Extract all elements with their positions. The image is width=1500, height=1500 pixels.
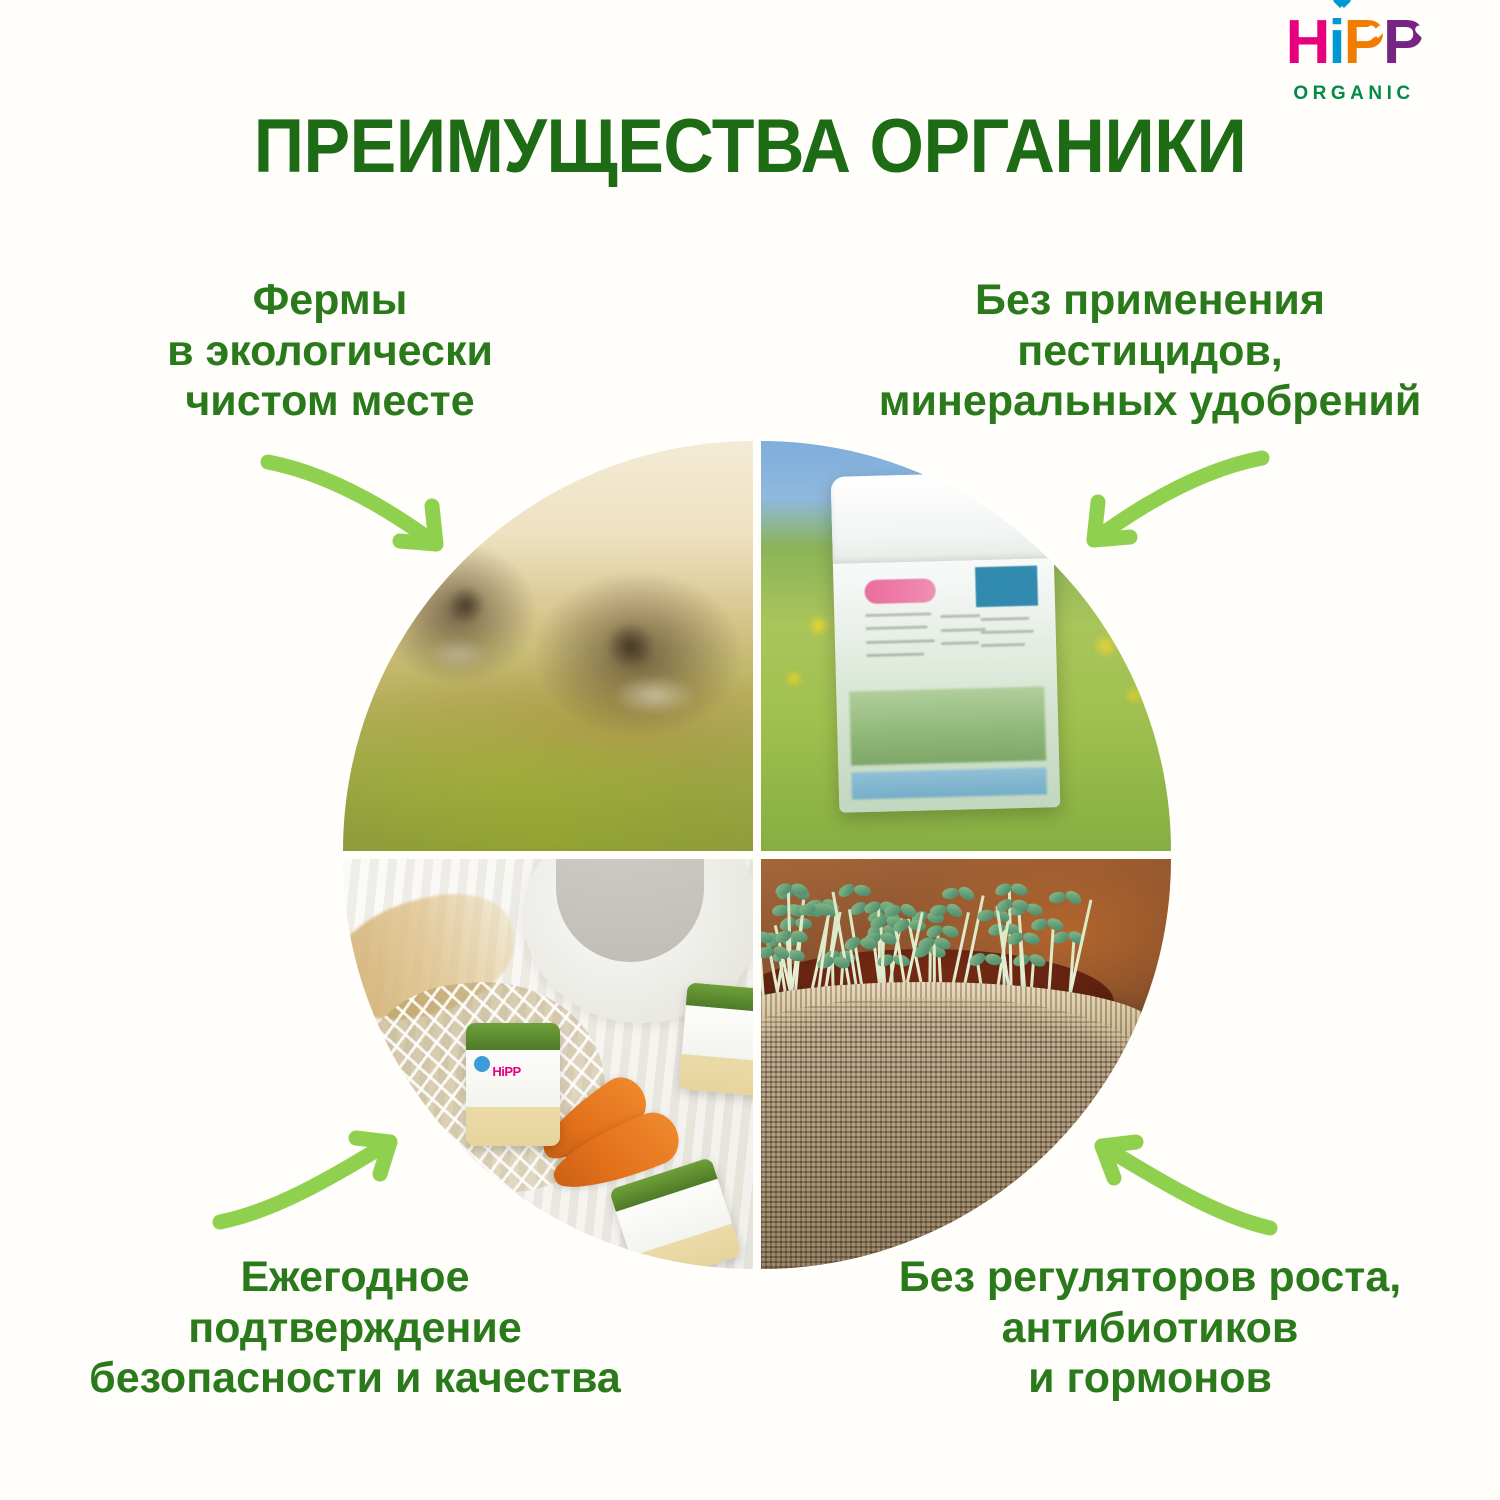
sprout-leaf [853, 883, 872, 897]
sprout-leaf [941, 924, 961, 940]
caption-no-pesticides: Без применения пестицидов, минеральных у… [830, 275, 1470, 427]
bag-label-pink [864, 578, 935, 603]
bag-text-line [941, 627, 985, 631]
logo-letter-i: i [1328, 14, 1343, 73]
page-title: ПРЕИМУЩЕСТВА ОРГАНИКИ [60, 103, 1440, 190]
logo-wordmark: HiPP [1286, 14, 1423, 80]
logo-letter-p-first: P [1344, 14, 1383, 73]
arrow-bottom-left [190, 1118, 440, 1258]
sprout-leaf [1064, 888, 1084, 907]
brand-logo: HiPP ORGANIC [1264, 14, 1444, 103]
logo-subtext: ORGANIC [1264, 84, 1444, 103]
sprout-leaf [1010, 881, 1030, 897]
bag-text-line [866, 639, 935, 644]
sprout-leaf [1022, 930, 1042, 946]
sprout-leaf [1030, 917, 1050, 933]
bag-text-line [980, 616, 1029, 620]
bag-text-line [981, 643, 1025, 647]
sprout-leaf [956, 885, 976, 904]
sprout-leaf [945, 901, 965, 920]
bag-text-line [940, 614, 980, 618]
hipp-jar: HiPP [466, 1023, 560, 1146]
bag-photo-strip [849, 686, 1046, 765]
hipp-jar [679, 982, 753, 1096]
arrow-top-right [1040, 440, 1280, 580]
bag-text-line [981, 629, 1034, 633]
bag-bottom-strip [851, 767, 1046, 799]
bag-text-line [866, 653, 924, 658]
caption-farms-clean-area: Фермы в экологически чистом месте [70, 275, 590, 427]
feed-bag-object [830, 471, 1060, 813]
bag-text-line [941, 641, 979, 645]
jar-label [682, 1006, 753, 1063]
bag-label-blue [975, 566, 1038, 608]
logo-letter-p-second: P [1383, 14, 1422, 73]
jar-brand-text: HiPP [492, 1064, 520, 1079]
jar-age-badge [474, 1056, 490, 1072]
sprout-leaf [929, 903, 948, 917]
caption-annual-safety-quality: Ежегодное подтверждение безопасности и к… [30, 1252, 680, 1404]
logo-letter-h: H [1286, 14, 1329, 73]
caption-no-growth-regulators: Без регуляторов роста, антибиотиков и го… [830, 1252, 1470, 1404]
sprout-leaf [1048, 890, 1067, 904]
sprout-leaf [794, 917, 813, 931]
sprout-leaf [941, 887, 960, 901]
jar-lid [466, 1023, 560, 1050]
bag-text-line [865, 626, 927, 631]
arrow-top-left [250, 440, 490, 580]
bag-text-line [865, 612, 931, 617]
arrow-bottom-right [1060, 1118, 1310, 1258]
